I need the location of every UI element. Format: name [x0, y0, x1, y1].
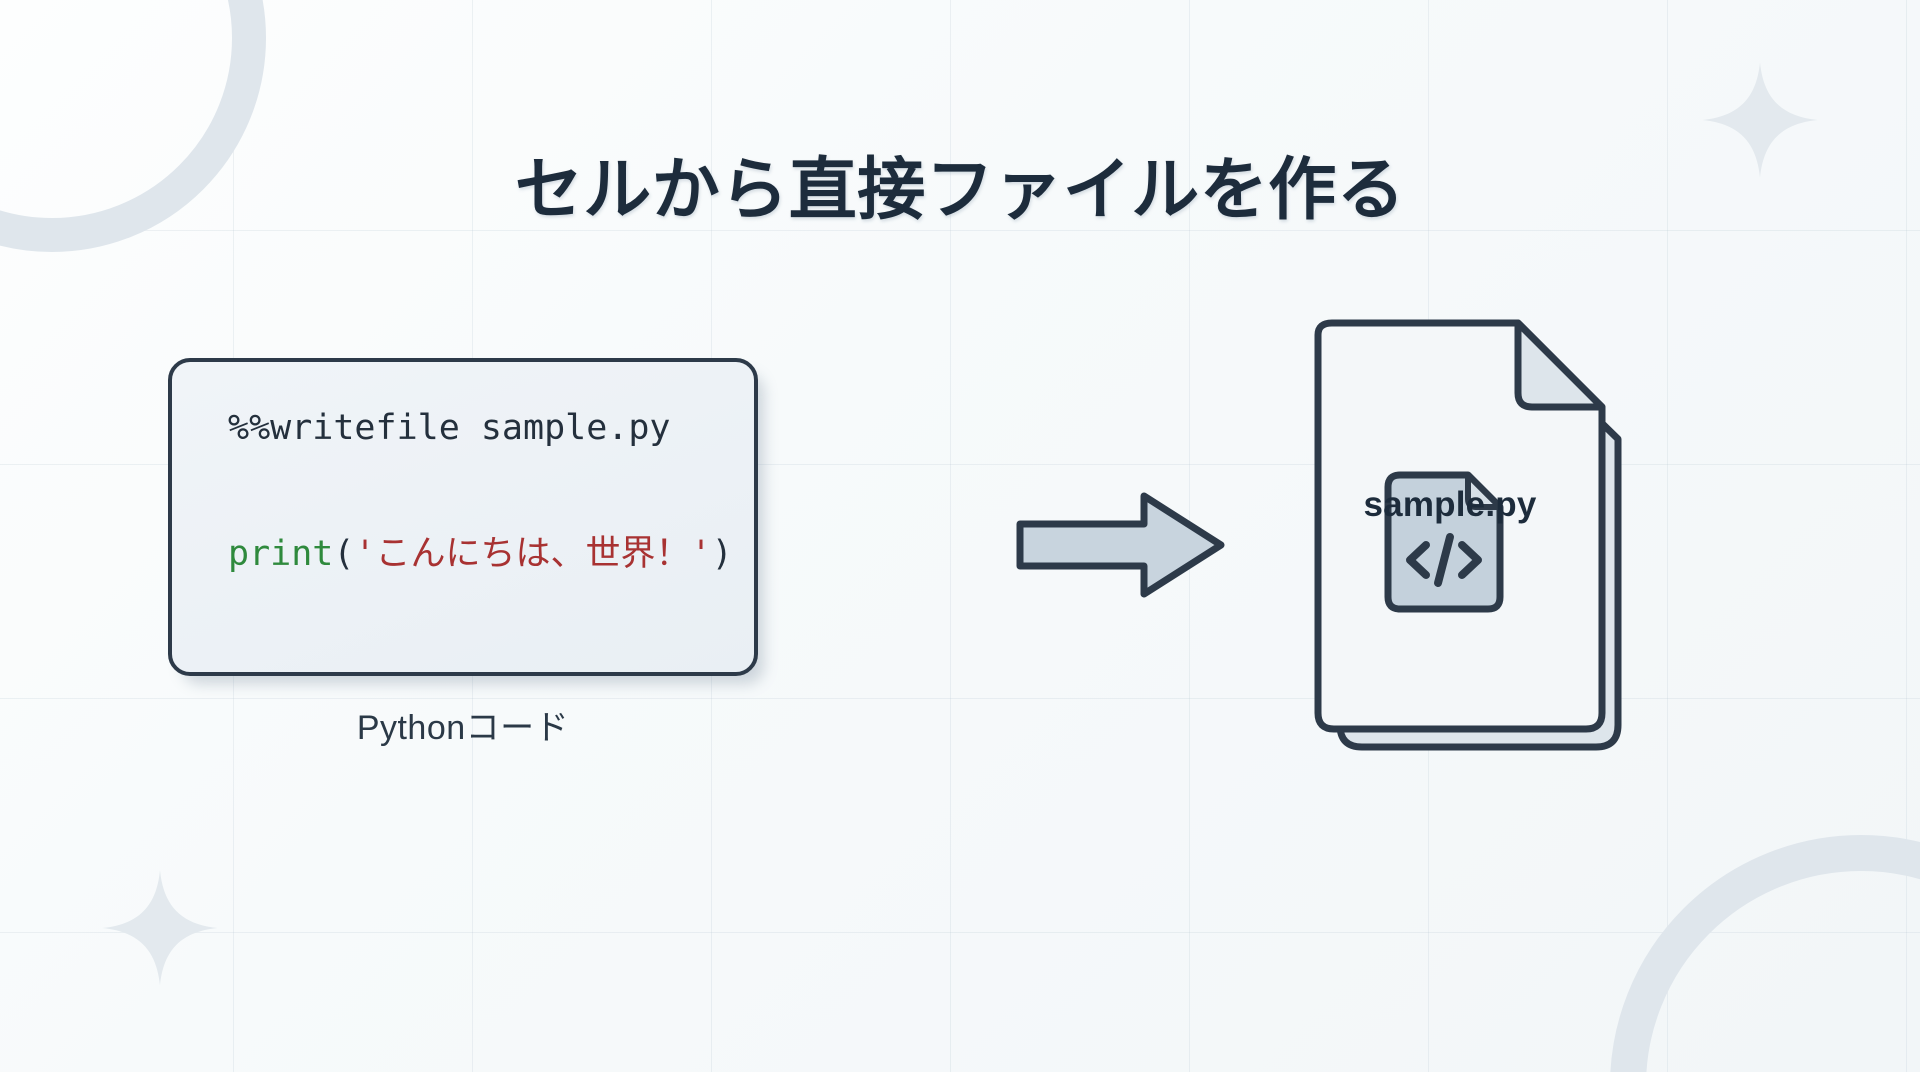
- code-token-function: print: [228, 534, 333, 574]
- flow-arrow-icon: [1016, 490, 1226, 600]
- page-title: セルから直接ファイルを作る: [0, 134, 1920, 233]
- slide-canvas: セルから直接ファイルを作る %%writefile sample.py prin…: [0, 0, 1920, 1072]
- code-token-string: 'こんにちは、世界！': [354, 534, 711, 574]
- code-token-open-paren: (: [333, 534, 354, 574]
- file-name-label: sample.py: [1300, 485, 1600, 525]
- code-card-caption: Pythonコード: [168, 700, 758, 749]
- file-illustration: [1300, 315, 1640, 775]
- code-block: %%writefile sample.py print('こんにちは、世界！'): [228, 408, 732, 575]
- code-line-magic: %%writefile sample.py: [228, 408, 732, 448]
- code-card: %%writefile sample.py print('こんにちは、世界！'): [168, 358, 758, 676]
- code-token-close-paren: ): [712, 534, 733, 574]
- code-line-print: print('こんにちは、世界！'): [228, 534, 732, 574]
- sparkle-icon-bottom-left: [100, 868, 220, 988]
- ring-decoration-bottom-right: [1610, 835, 1920, 1072]
